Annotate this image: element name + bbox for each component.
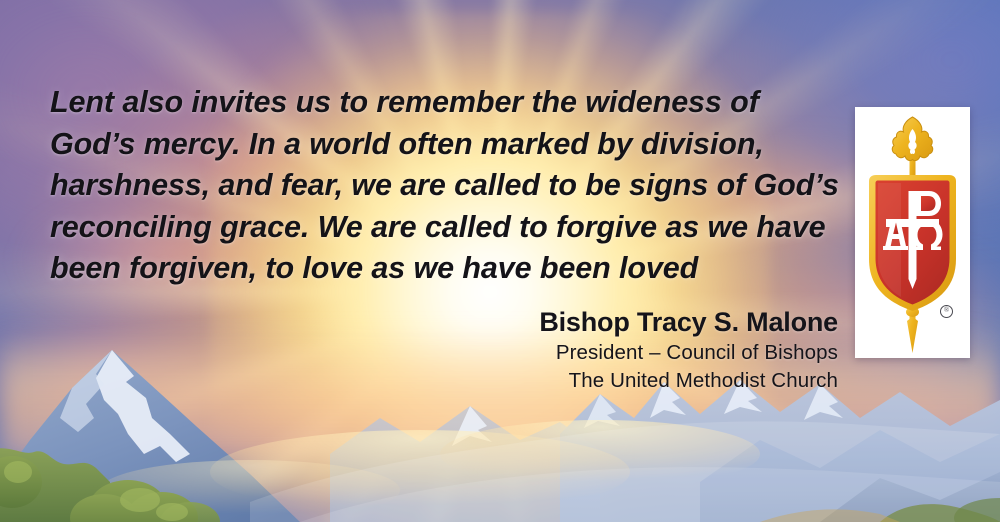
attribution-organization: The United Methodist Church (318, 367, 838, 395)
attribution-role: President – Council of Bishops (318, 339, 838, 367)
registered-trademark-icon: ® (940, 305, 953, 318)
council-of-bishops-logo-card: ® (855, 107, 970, 358)
quote-text: Lent also invites us to remember the wid… (50, 82, 840, 290)
attribution-name: Bishop Tracy S. Malone (318, 305, 838, 339)
attribution-block: Bishop Tracy S. Malone President – Counc… (318, 305, 838, 395)
quote-graphic-card: Lent also invites us to remember the wid… (0, 0, 1000, 522)
council-of-bishops-shield-icon (855, 107, 970, 358)
